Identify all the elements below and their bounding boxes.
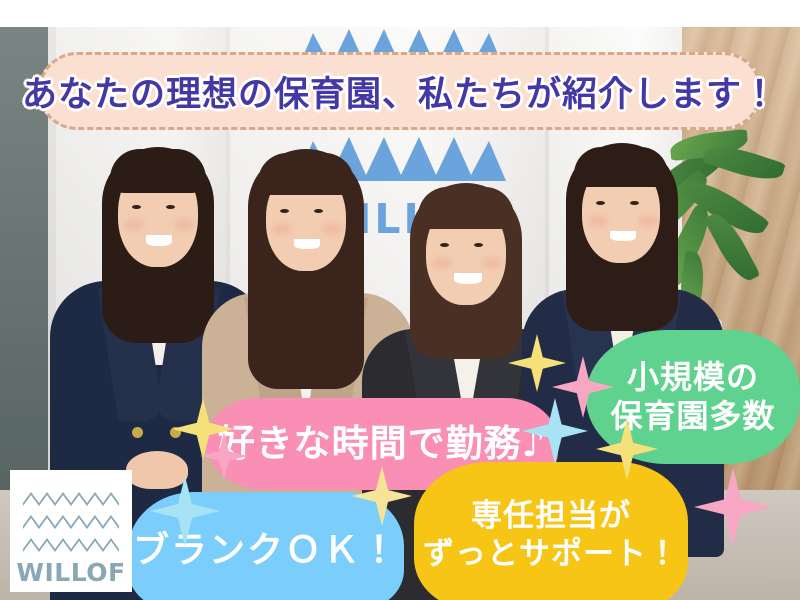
- person-2-blush-left: [272, 223, 292, 235]
- person-3-blush-right: [482, 257, 502, 269]
- headline-text: あなたの理想の保育園、私たちが紹介します！: [22, 66, 778, 117]
- ad-creative: WILLOF: [0, 0, 800, 600]
- person-2-eye-right: [314, 209, 323, 213]
- logo-zigzag-row-1: [23, 490, 119, 506]
- person-1-blush-right: [174, 219, 194, 231]
- person-2-eye-left: [280, 209, 289, 213]
- person-2-smile: [294, 239, 320, 249]
- person-1-bangs: [110, 149, 206, 193]
- person-4-blush-left: [588, 215, 608, 227]
- person-1-blush-left: [124, 219, 144, 231]
- benefit-bubble-dedicated-support: 専任担当が ずっとサポート！: [414, 462, 688, 600]
- person-3-eye-left: [440, 243, 449, 247]
- person-3-eye-right: [474, 243, 483, 247]
- logo-zigzag-row-3: [23, 536, 119, 552]
- logo-zigzag-row-2: [23, 513, 119, 529]
- person-4-blush-right: [638, 215, 658, 227]
- person-4-bangs: [574, 147, 668, 187]
- person-4-eye-right: [630, 201, 639, 205]
- person-1-button-1: [132, 427, 143, 438]
- headline-banner: あなたの理想の保育園、私たちが紹介します！: [38, 52, 762, 130]
- person-4-smile: [610, 231, 636, 241]
- willof-logo: WILLOF: [10, 470, 132, 592]
- person-3-smile: [454, 273, 482, 284]
- logo-wordmark: WILLOF: [10, 558, 132, 587]
- person-1-eye-right: [166, 205, 175, 209]
- person-1-smile: [146, 235, 172, 246]
- person-3-bangs: [418, 187, 514, 229]
- person-3-blush-left: [432, 257, 452, 269]
- person-2-blush-right: [322, 223, 342, 235]
- person-1-eye-left: [132, 205, 141, 209]
- person-2-bangs: [258, 153, 354, 195]
- person-1-hands: [126, 451, 188, 489]
- person-4-eye-left: [596, 201, 605, 205]
